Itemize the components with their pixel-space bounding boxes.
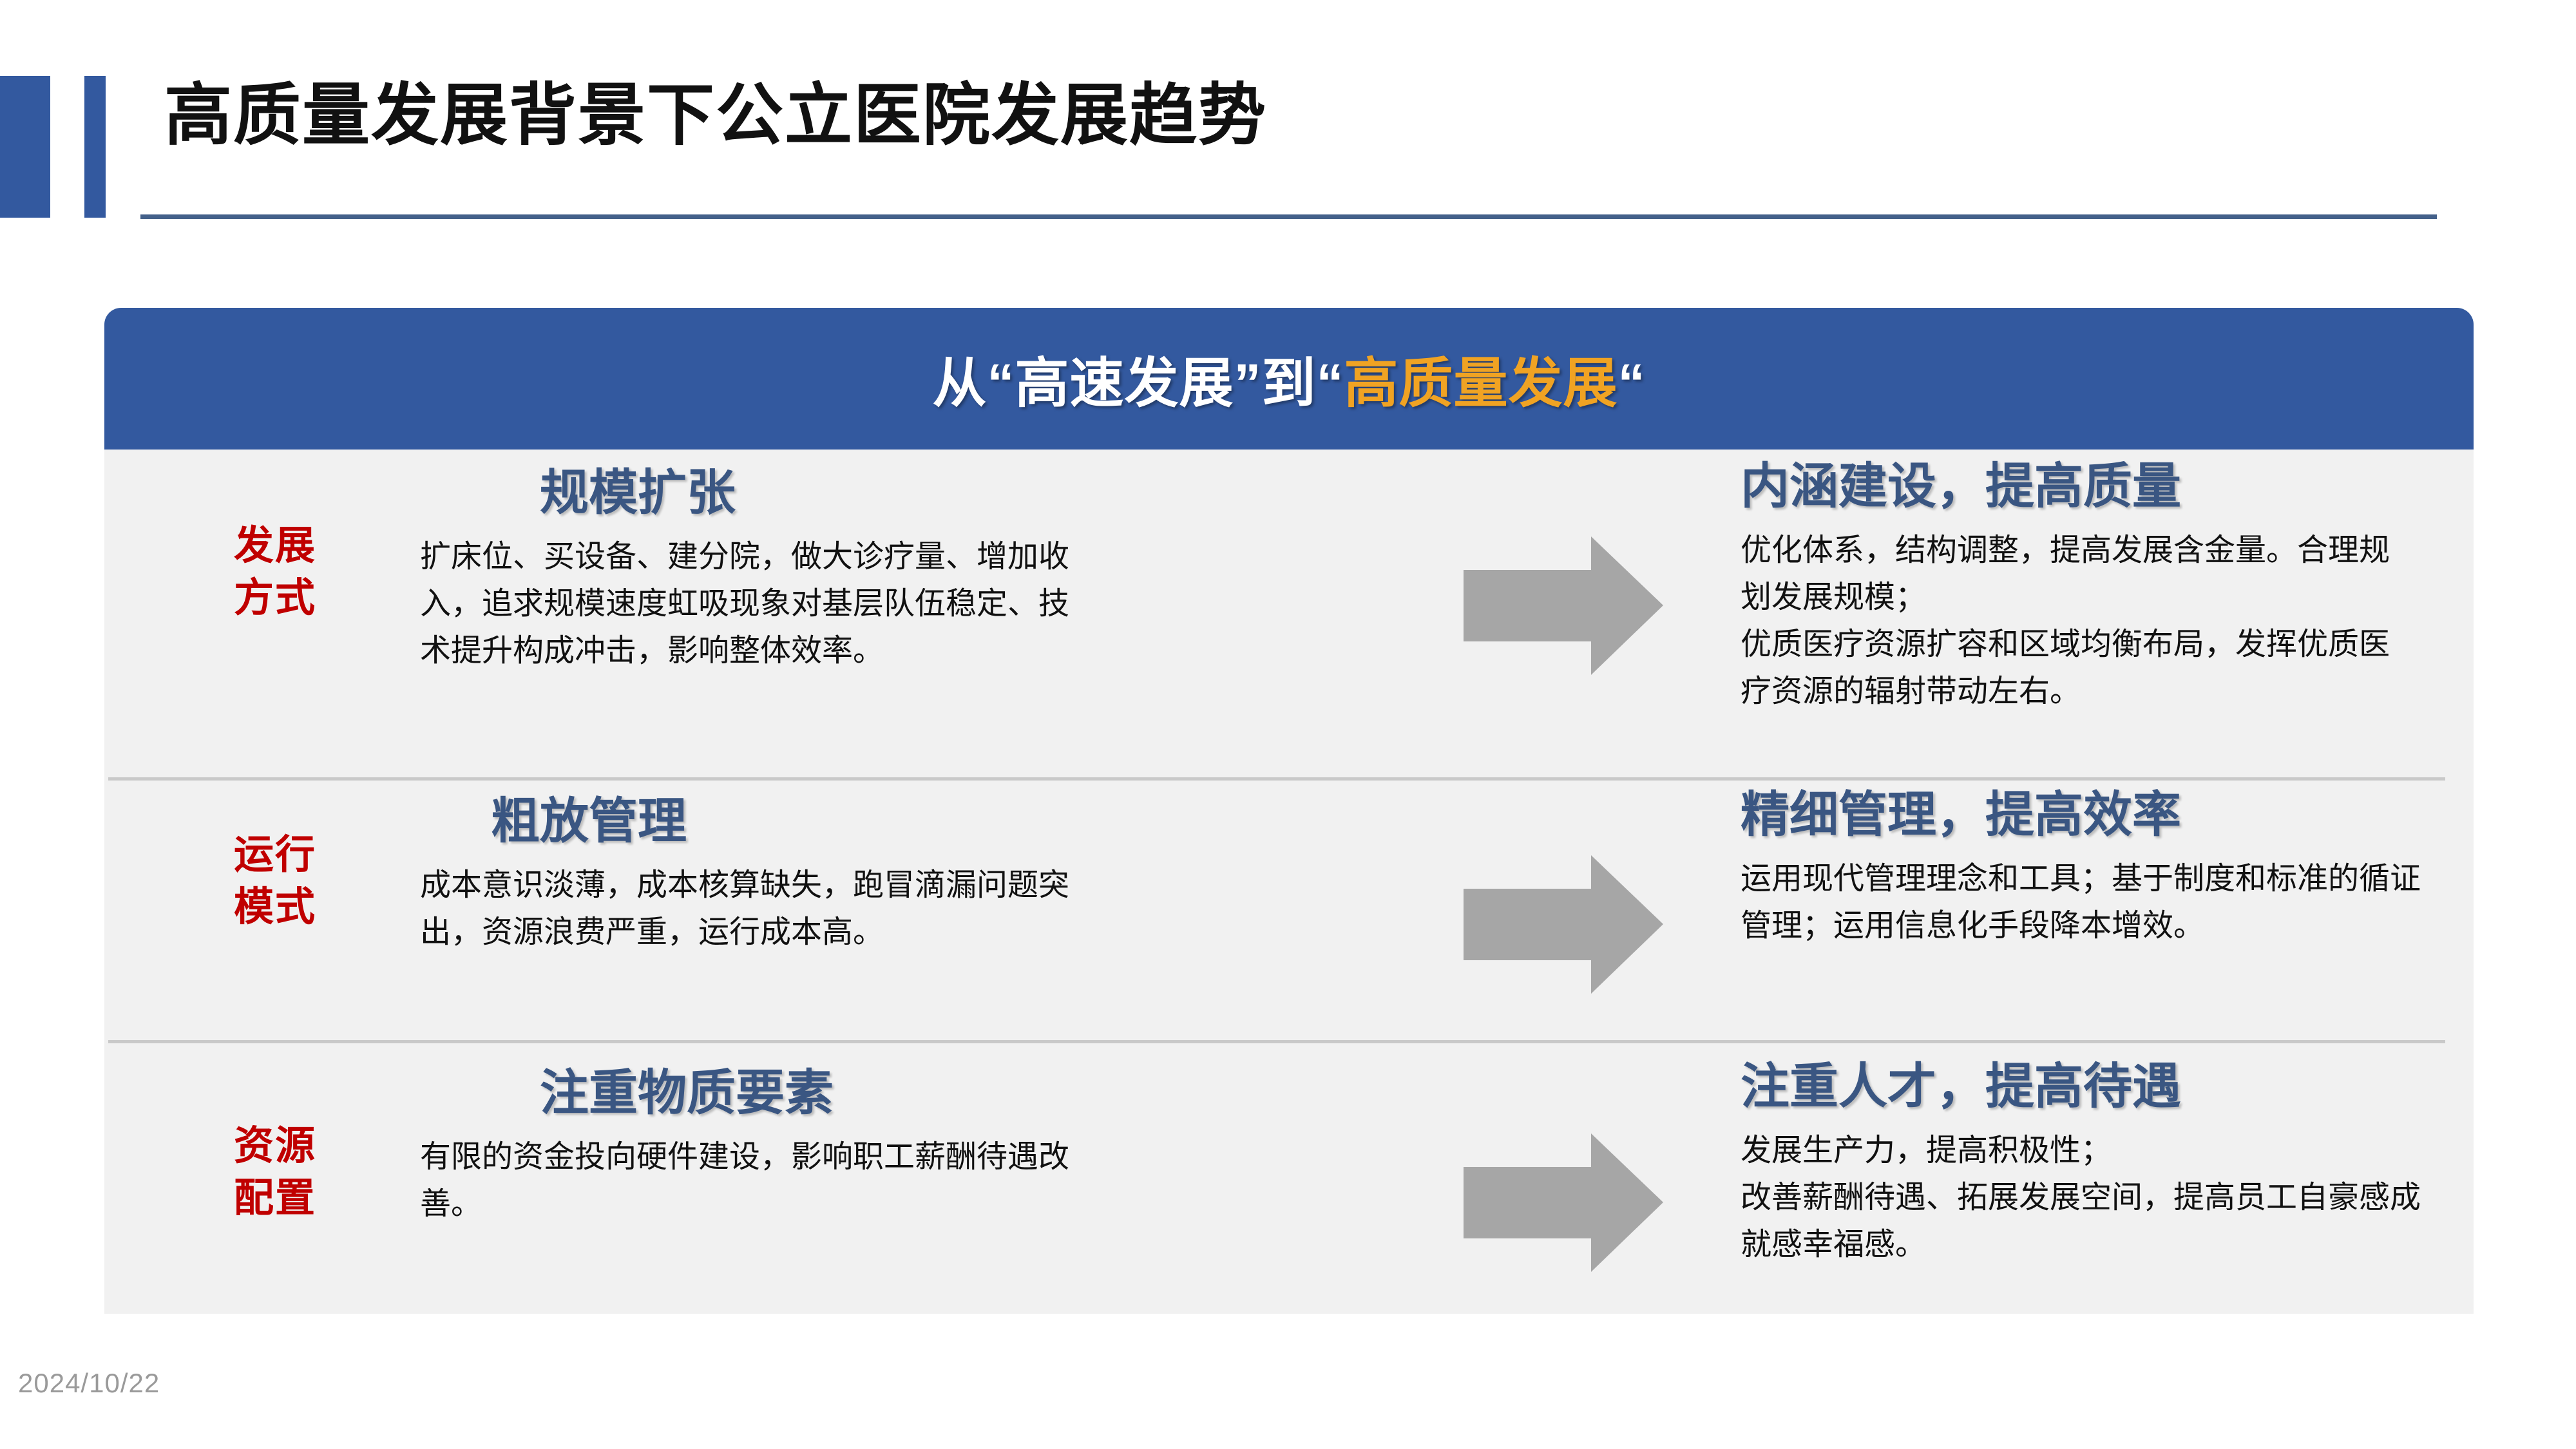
row-label-line-2: 配置	[201, 1173, 349, 1225]
row-label-line-1: 资源	[201, 1121, 349, 1173]
row-1-before-heading: 规模扩张	[540, 464, 1302, 522]
row-2-after-body: 运用现代管理理念和工具；基于制度和标准的循证 管理；运用信息化手段降本增效。	[1741, 856, 2576, 950]
row-label-resource-allocation: 资源 配置	[201, 1121, 349, 1224]
row-1-before-body: 扩床位、买设备、建分院，做大诊疗量、增加收 入，追求规模速度虹吸现象对基层队伍稳…	[420, 534, 1302, 675]
body-line: 划发展规模；	[1741, 574, 2576, 621]
table-row: 资源 配置 注重物质要素 有限的资金投向硬件建设，影响职工薪酬待遇改 善。 注重…	[104, 1050, 2474, 1314]
body-line: 管理；运用信息化手段降本增效。	[1741, 903, 2576, 950]
body-line: 有限的资金投向硬件建设，影响职工薪酬待遇改	[420, 1134, 1302, 1181]
row-1-before-column: 规模扩张 扩床位、买设备、建分院，做大诊疗量、增加收 入，追求规模速度虹吸现象对…	[420, 464, 1302, 675]
row-2-before-column: 粗放管理 成本意识淡薄，成本核算缺失，跑冒滴漏问题突 出，资源浪费严重，运行成本…	[420, 792, 1302, 956]
body-line: 入，追求规模速度虹吸现象对基层队伍稳定、技	[420, 581, 1302, 628]
row-label-line-2: 模式	[201, 882, 349, 934]
row-2-before-heading: 粗放管理	[491, 792, 1302, 851]
row-label-development-mode: 发展 方式	[201, 520, 349, 624]
body-line: 运用现代管理理念和工具；基于制度和标准的循证	[1741, 856, 2576, 903]
row-1-after-body: 优化体系，结构调整，提高发展含金量。合理规 划发展规模； 优质医疗资源扩容和区域…	[1741, 527, 2576, 715]
row-3-after-heading: 注重人才，提高待遇	[1741, 1057, 2576, 1116]
right-arrow-icon	[1464, 855, 1663, 994]
row-label-line-1: 运行	[201, 829, 349, 882]
comparison-rows: 发展 方式 规模扩张 扩床位、买设备、建分院，做大诊疗量、增加收 入，追求规模速…	[104, 450, 2474, 1314]
table-row: 运行 模式 粗放管理 成本意识淡薄，成本核算缺失，跑冒滴漏问题突 出，资源浪费严…	[104, 779, 2474, 1050]
row-3-after-body: 发展生产力，提高积极性； 改善薪酬待遇、拓展发展空间，提高员工自豪感成 就感幸福…	[1741, 1128, 2576, 1269]
row-3-before-heading: 注重物质要素	[540, 1064, 1302, 1122]
banner-title: 从“高速发展”到“高质量发展“	[932, 340, 1645, 418]
body-line: 就感幸福感。	[1741, 1222, 2576, 1269]
right-arrow-icon	[1464, 536, 1663, 675]
page-title: 高质量发展背景下公立医院发展趋势	[164, 77, 1267, 155]
body-line: 发展生产力，提高积极性；	[1741, 1128, 2576, 1175]
table-row: 发展 方式 规模扩张 扩床位、买设备、建分院，做大诊疗量、增加收 入，追求规模速…	[104, 450, 2474, 779]
row-3-before-body: 有限的资金投向硬件建设，影响职工薪酬待遇改 善。	[420, 1134, 1302, 1228]
body-line: 改善薪酬待遇、拓展发展空间，提高员工自豪感成	[1741, 1175, 2576, 1222]
body-line: 术提升构成冲击，影响整体效率。	[420, 628, 1302, 675]
body-line: 优化体系，结构调整，提高发展含金量。合理规	[1741, 527, 2576, 574]
body-line: 成本意识淡薄，成本核算缺失，跑冒滴漏问题突	[420, 862, 1302, 909]
body-line: 疗资源的辐射带动左右。	[1741, 668, 2576, 715]
title-accent-bar-narrow	[84, 76, 106, 218]
row-label-line-1: 发展	[201, 520, 349, 573]
row-2-after-heading: 精细管理，提高效率	[1741, 786, 2576, 844]
footer-date: 2024/10/22	[18, 1368, 160, 1399]
row-divider	[108, 1040, 2445, 1043]
row-3-before-column: 注重物质要素 有限的资金投向硬件建设，影响职工薪酬待遇改 善。	[420, 1064, 1302, 1228]
title-divider-rule	[140, 214, 2437, 219]
row-1-after-heading: 内涵建设，提高质量	[1741, 457, 2576, 516]
banner-title-highlight: 高质量发展	[1344, 353, 1618, 413]
row-3-after-column: 注重人才，提高待遇 发展生产力，提高积极性； 改善薪酬待遇、拓展发展空间，提高员…	[1741, 1057, 2576, 1269]
title-accent-bar-wide	[0, 76, 50, 218]
banner-title-prefix: 从“高速发展”到“	[932, 353, 1344, 413]
body-line: 善。	[420, 1181, 1302, 1228]
row-2-before-body: 成本意识淡薄，成本核算缺失，跑冒滴漏问题突 出，资源浪费严重，运行成本高。	[420, 862, 1302, 956]
body-line: 优质医疗资源扩容和区域均衡布局，发挥优质医	[1741, 621, 2576, 668]
body-line: 扩床位、买设备、建分院，做大诊疗量、增加收	[420, 534, 1302, 581]
right-arrow-icon	[1464, 1133, 1663, 1272]
body-line: 出，资源浪费严重，运行成本高。	[420, 909, 1302, 956]
card-banner: 从“高速发展”到“高质量发展“	[104, 308, 2474, 450]
comparison-card: 从“高速发展”到“高质量发展“ 发展 方式 规模扩张 扩床位、买设备、建分院，做…	[104, 308, 2474, 1314]
row-label-operation-mode: 运行 模式	[201, 829, 349, 933]
row-2-after-column: 精细管理，提高效率 运用现代管理理念和工具；基于制度和标准的循证 管理；运用信息…	[1741, 786, 2576, 950]
row-label-line-2: 方式	[201, 573, 349, 625]
row-1-after-column: 内涵建设，提高质量 优化体系，结构调整，提高发展含金量。合理规 划发展规模； 优…	[1741, 457, 2576, 715]
banner-title-suffix: “	[1618, 353, 1646, 413]
